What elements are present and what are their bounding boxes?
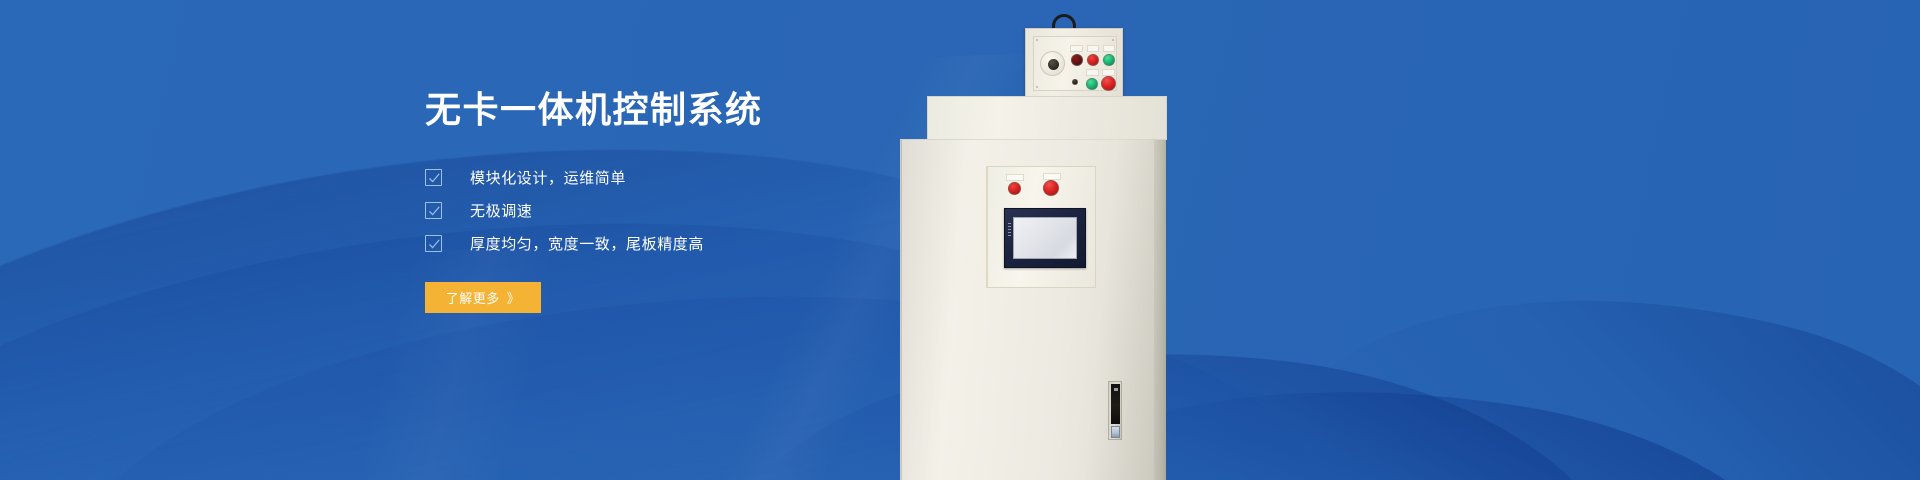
latch-key-lock[interactable] (1111, 426, 1120, 438)
double-chevron-right-icon: 》 (507, 288, 521, 307)
button-label-tag (1070, 45, 1083, 52)
control-box (1025, 28, 1123, 97)
button-green-2[interactable] (1086, 78, 1098, 90)
hmi-touchscreen[interactable] (1004, 208, 1086, 268)
control-box-face (1033, 36, 1117, 91)
checkbox-checked-icon (425, 169, 442, 186)
latch-mark (1114, 388, 1118, 391)
feature-label: 无极调速 (470, 200, 532, 221)
button-red-left[interactable] (1008, 182, 1021, 195)
feature-label: 模块化设计，运维简单 (470, 167, 626, 188)
button-label-tag (1087, 45, 1099, 52)
switch-black-small[interactable] (1072, 79, 1078, 85)
button-green[interactable] (1103, 54, 1115, 66)
hero-banner: 无卡一体机控制系统 模块化设计，运维简单 无极调速 (0, 0, 1920, 480)
cabinet-right-edge (1154, 140, 1166, 480)
checkbox-checked-icon (425, 235, 442, 252)
rotary-selector-knob[interactable] (1040, 51, 1065, 76)
learn-more-button[interactable]: 了解更多 》 (425, 282, 541, 313)
screw-icon (1112, 39, 1114, 41)
button-red[interactable] (1087, 54, 1099, 66)
knob-center (1048, 59, 1059, 70)
button-label-tag (1006, 174, 1024, 181)
indicator-dark-red[interactable] (1071, 54, 1083, 66)
emergency-stop-red[interactable] (1101, 76, 1116, 91)
hmi-panel-recess (986, 166, 1096, 288)
learn-more-label: 了解更多 (446, 288, 500, 307)
button-red-right[interactable] (1043, 180, 1059, 196)
cabinet-door-latch[interactable] (1108, 381, 1122, 440)
checkbox-checked-icon (425, 202, 442, 219)
product-photo (900, 0, 1200, 480)
screw-icon (1036, 86, 1038, 88)
cabinet-door-seam (901, 140, 902, 480)
button-label-tag (1086, 69, 1099, 76)
button-label-tag (1043, 173, 1061, 180)
hmi-display (1013, 217, 1077, 259)
button-label-tag (1103, 45, 1115, 52)
cabinet-top-shelf (927, 96, 1167, 140)
feature-label: 厚度均匀，宽度一致，尾板精度高 (470, 233, 704, 254)
hmi-side-keys (1008, 223, 1011, 237)
button-label-tag (1102, 69, 1115, 76)
main-cabinet (900, 139, 1166, 480)
screw-icon (1036, 39, 1038, 41)
latch-slot (1111, 384, 1120, 424)
